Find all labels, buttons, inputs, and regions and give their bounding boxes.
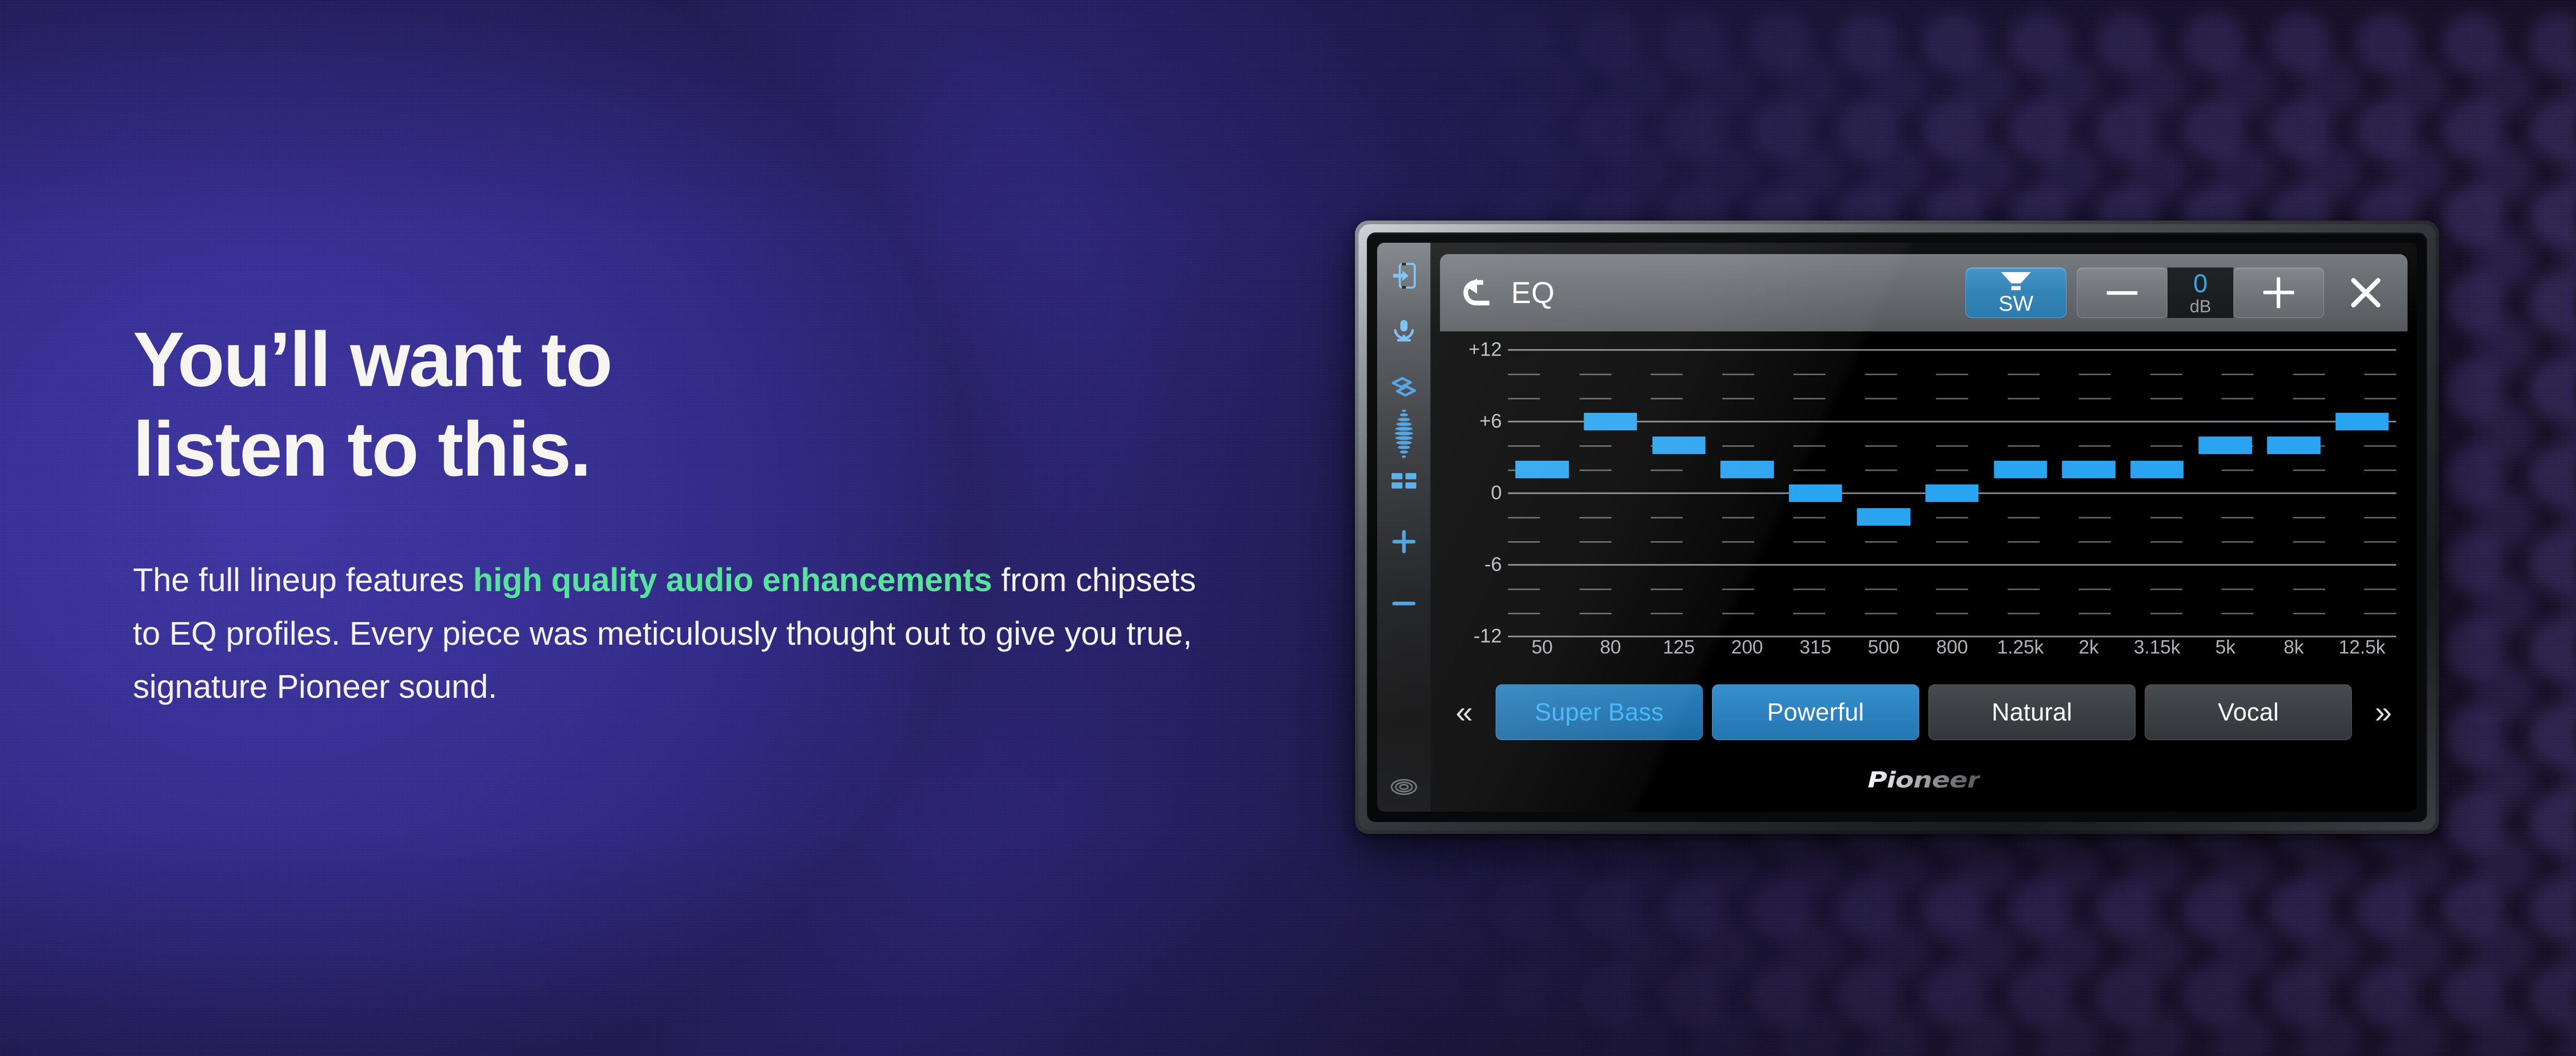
eq-x-tick-label: 3.15k bbox=[2134, 636, 2181, 658]
eq-x-tick-label: 200 bbox=[1731, 636, 1763, 658]
eq-y-axis: +12+60-6-12 bbox=[1440, 350, 1508, 636]
preset-button[interactable]: Super Bass bbox=[1496, 684, 1703, 740]
apps-grid-icon[interactable] bbox=[1388, 465, 1419, 496]
eq-x-tick-label: 8k bbox=[2284, 636, 2304, 658]
eq-y-tick-label: -6 bbox=[1484, 554, 1502, 576]
microphone-icon[interactable] bbox=[1388, 315, 1419, 346]
eq-y-tick-label: 0 bbox=[1491, 482, 1502, 505]
subwoofer-toggle-button[interactable]: SW bbox=[1965, 267, 2066, 318]
page-paragraph: The full lineup features high quality au… bbox=[133, 554, 1225, 714]
eq-x-tick-label: 500 bbox=[1868, 636, 1900, 658]
eq-header-bar: EQ SW 0 bbox=[1440, 254, 2408, 331]
gain-value-display: 0 dB bbox=[2167, 267, 2233, 318]
eq-x-tick-label: 2k bbox=[2079, 636, 2099, 658]
eq-band-slider[interactable] bbox=[1720, 461, 1773, 478]
eq-band-slider[interactable] bbox=[1857, 508, 1910, 526]
car-stereo-device: EQ SW 0 bbox=[1355, 221, 2439, 834]
device-bezel-middle: EQ SW 0 bbox=[1359, 224, 2435, 830]
device-screen: EQ SW 0 bbox=[1377, 243, 2417, 812]
gain-unit: dB bbox=[2190, 298, 2211, 315]
eq-x-axis: 50801252003155008001.25k2k3.15k5k8k12.5k bbox=[1440, 636, 2408, 676]
gain-stepper: 0 dB bbox=[2077, 267, 2324, 318]
brand-footer: Pioneer bbox=[1431, 749, 2417, 812]
eq-x-tick-label: 1.25k bbox=[1997, 636, 2044, 658]
paragraph-highlight: high quality audio enhancements bbox=[473, 561, 992, 598]
eq-graph-panel: +12+60-6-12 50801252003155008001.25k2k3.… bbox=[1440, 331, 2408, 676]
preset-label: Natural bbox=[1992, 698, 2072, 727]
eq-x-tick-label: 12.5k bbox=[2338, 636, 2385, 658]
marketing-copy-block: You’ll want to listen to this. The full … bbox=[133, 314, 1256, 714]
eq-y-tick-label: +6 bbox=[1480, 411, 1502, 433]
preset-label: Powerful bbox=[1767, 698, 1864, 727]
eq-preset-row: « Super Bass Powerful Natural Vocal » bbox=[1440, 676, 2408, 749]
preset-button[interactable]: Vocal bbox=[2145, 684, 2352, 740]
eq-band-slider[interactable] bbox=[2130, 461, 2183, 478]
preset-button[interactable]: Powerful bbox=[1712, 684, 1919, 740]
eq-band-slider[interactable] bbox=[1994, 461, 2047, 478]
screen-main-area: EQ SW 0 bbox=[1431, 243, 2417, 812]
eq-grid bbox=[1508, 350, 2396, 636]
eq-plot-area: +12+60-6-12 bbox=[1440, 331, 2408, 636]
page-headline: You’ll want to listen to this. bbox=[133, 314, 1256, 494]
back-arrow-icon[interactable] bbox=[1458, 273, 1498, 313]
preset-label: Super Bass bbox=[1535, 698, 1664, 727]
device-side-rail bbox=[1377, 243, 1431, 812]
eq-band-slider[interactable] bbox=[1925, 484, 1978, 502]
eq-band-slider[interactable] bbox=[1652, 437, 1705, 454]
preset-button[interactable]: Natural bbox=[1928, 684, 2136, 740]
home-ring-icon[interactable] bbox=[1388, 772, 1419, 802]
eq-x-tick-label: 50 bbox=[1532, 636, 1553, 658]
eq-band-slider[interactable] bbox=[2335, 413, 2388, 430]
source-input-icon[interactable] bbox=[1388, 260, 1419, 291]
eq-x-axis-labels: 50801252003155008001.25k2k3.15k5k8k12.5k bbox=[1508, 636, 2396, 676]
close-x-icon bbox=[2347, 274, 2384, 311]
eq-y-tick-label: +12 bbox=[1469, 339, 1502, 361]
eq-x-tick-label: 125 bbox=[1663, 636, 1695, 658]
subwoofer-cone-icon bbox=[1999, 271, 2033, 291]
eq-x-tick-label: 315 bbox=[1800, 636, 1832, 658]
plus-icon bbox=[2263, 277, 2294, 308]
sw-button-label: SW bbox=[1998, 293, 2033, 314]
eq-band-slider[interactable] bbox=[2199, 437, 2252, 454]
gain-value: 0 bbox=[2193, 271, 2208, 296]
gain-decrease-button[interactable] bbox=[2077, 267, 2167, 318]
eq-band-slider[interactable] bbox=[2267, 437, 2320, 454]
eq-band-slider[interactable] bbox=[1516, 461, 1569, 478]
sound-waveform-icon[interactable] bbox=[1388, 407, 1419, 462]
volume-down-icon[interactable] bbox=[1388, 588, 1419, 619]
eq-band-slider[interactable] bbox=[1789, 484, 1842, 502]
eq-x-tick-label: 800 bbox=[1936, 636, 1968, 658]
gain-increase-button[interactable] bbox=[2233, 267, 2324, 318]
eq-band-slider[interactable] bbox=[1584, 413, 1637, 430]
minus-icon bbox=[2107, 291, 2138, 295]
volume-up-icon[interactable] bbox=[1388, 526, 1419, 557]
eq-x-tick-label: 5k bbox=[2215, 636, 2235, 658]
device-bezel-inner: EQ SW 0 bbox=[1367, 232, 2427, 822]
paragraph-text-lead: The full lineup features bbox=[133, 561, 473, 598]
eq-band-slider[interactable] bbox=[2062, 461, 2115, 478]
eq-band-bars bbox=[1508, 350, 2396, 636]
page-title: EQ bbox=[1511, 276, 1555, 310]
presets-prev-chevron[interactable]: « bbox=[1442, 697, 1486, 728]
presets-next-chevron[interactable]: » bbox=[2361, 697, 2405, 728]
preset-label: Vocal bbox=[2218, 698, 2279, 727]
pioneer-logo: Pioneer bbox=[1868, 767, 1980, 793]
device-bezel-outer: EQ SW 0 bbox=[1355, 221, 2439, 834]
close-button[interactable] bbox=[2337, 267, 2394, 318]
eq-x-tick-label: 80 bbox=[1600, 636, 1621, 658]
phone-swap-icon[interactable] bbox=[1388, 372, 1419, 403]
